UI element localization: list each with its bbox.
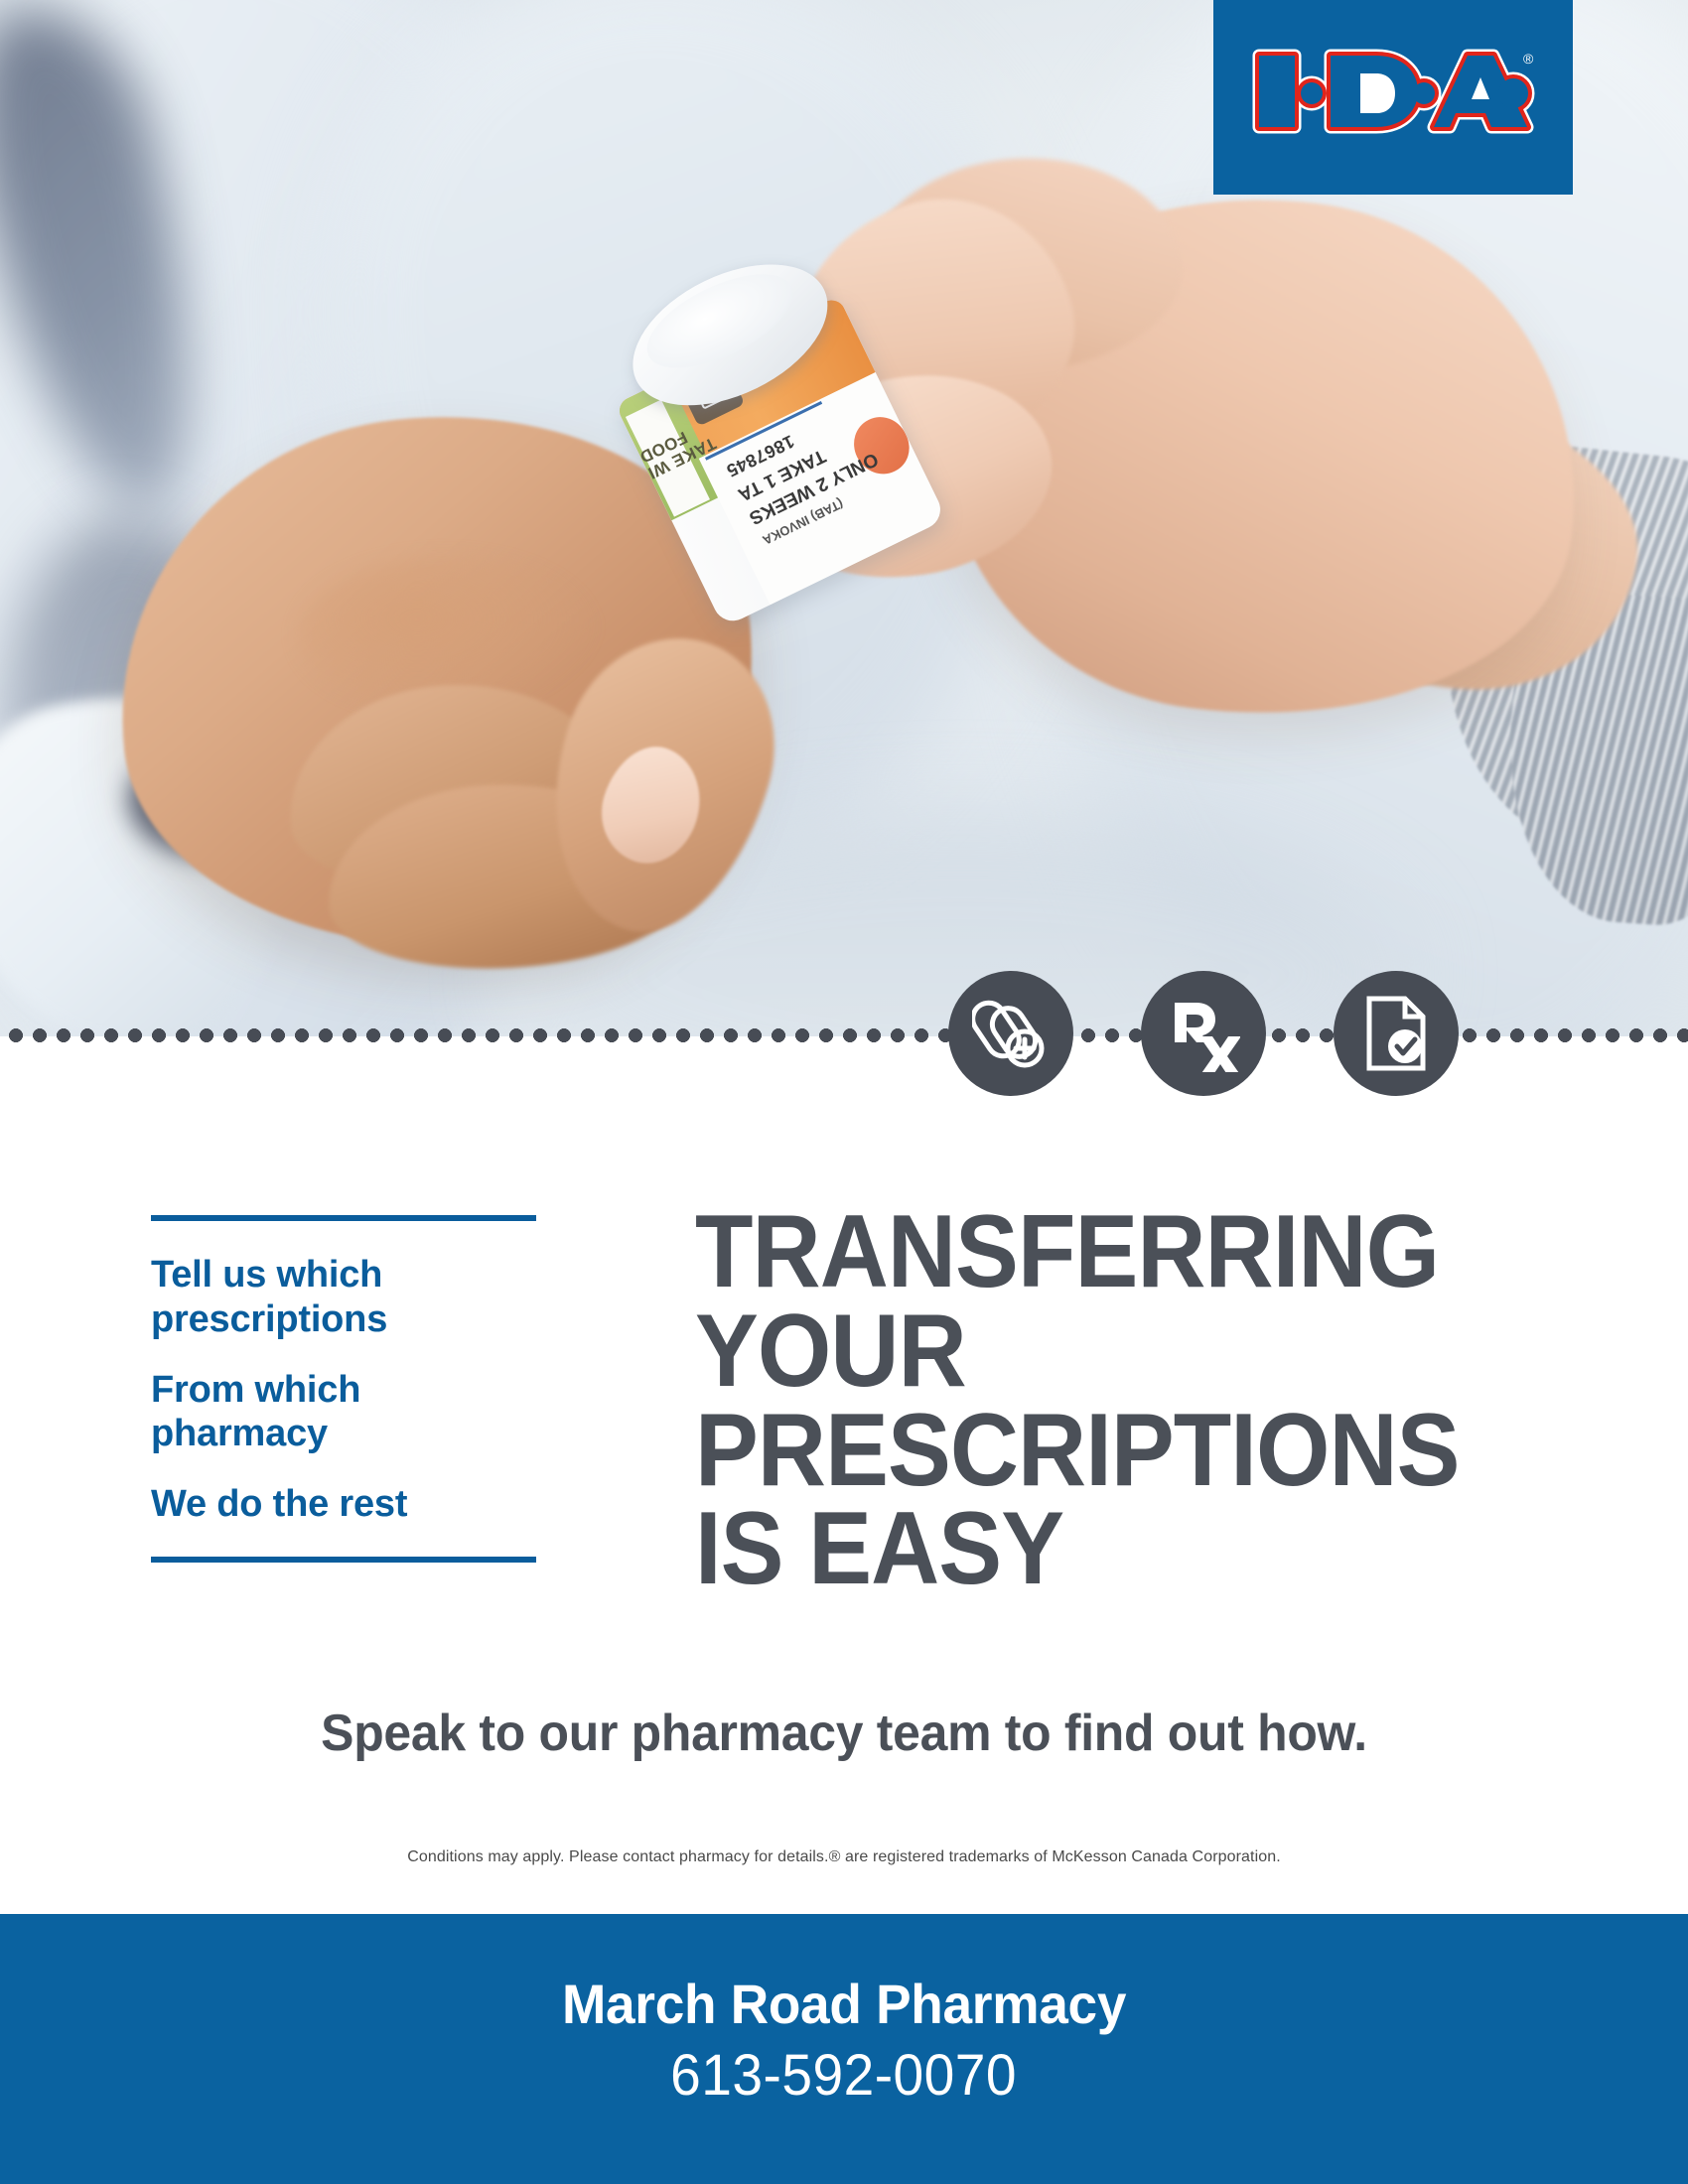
logo-registered-mark: ® bbox=[1523, 51, 1534, 67]
steps-list: Tell us which prescriptions From which p… bbox=[151, 1221, 536, 1557]
rx-icon bbox=[1141, 971, 1266, 1096]
headline-line-1: TRANSFERRING bbox=[695, 1203, 1489, 1302]
headline-line-2: YOUR bbox=[695, 1302, 1489, 1402]
pharmacy-name: March Road Pharmacy bbox=[562, 1972, 1126, 2036]
subheadline: Speak to our pharmacy team to find out h… bbox=[34, 1704, 1654, 1763]
document-check-icon bbox=[1334, 971, 1459, 1096]
step-item-3: We do the rest bbox=[151, 1482, 536, 1527]
footer-bar: March Road Pharmacy 613-592-0070 bbox=[0, 1914, 1688, 2184]
step-item-1: Tell us which prescriptions bbox=[151, 1253, 536, 1342]
steps-rule-bottom bbox=[151, 1557, 536, 1563]
icon-row bbox=[948, 946, 1504, 1121]
lower-content: Tell us which prescriptions From which p… bbox=[0, 1036, 1688, 1914]
steps-block: Tell us which prescriptions From which p… bbox=[151, 1215, 536, 1563]
step-item-2: From which pharmacy bbox=[151, 1368, 536, 1457]
legal-fineprint: Conditions may apply. Please contact pha… bbox=[0, 1848, 1688, 1866]
headline-line-4: IS EASY bbox=[695, 1500, 1489, 1599]
pharmacy-phone[interactable]: 613-592-0070 bbox=[671, 2042, 1018, 2109]
poster: TAKE WITH FOOD 1867845 TAKE 1 TA ONLY 2 … bbox=[0, 0, 1688, 2184]
pills-plus-icon bbox=[948, 971, 1073, 1096]
headline-line-3: PRESCRIPTIONS bbox=[695, 1402, 1489, 1501]
headline: TRANSFERRING YOUR PRESCRIPTIONS IS EASY bbox=[695, 1203, 1489, 1599]
ida-logo: ® bbox=[1213, 0, 1573, 195]
